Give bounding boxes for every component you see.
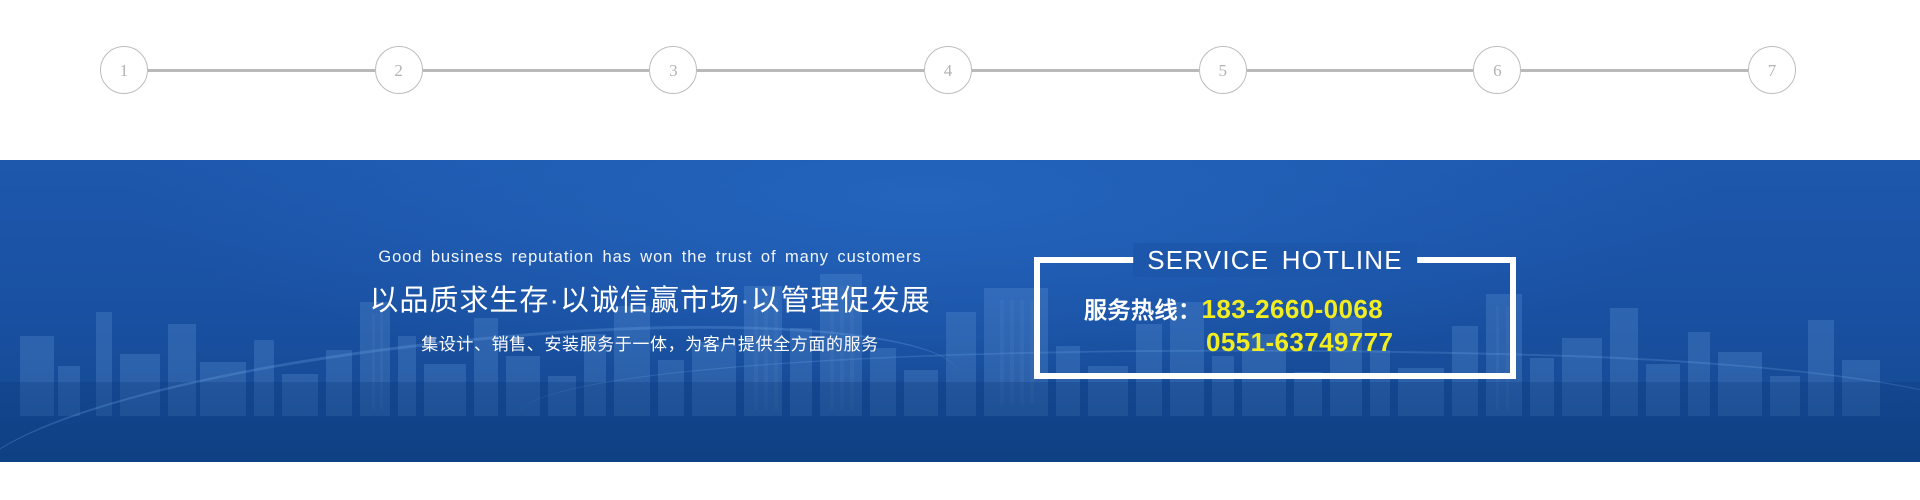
hotline-number-list: 服务热线： 183-2660-0068 0551-63749777	[1040, 291, 1510, 358]
page-root: 1 2 3 4 5 6 7	[0, 0, 1920, 500]
step-node-2[interactable]: 2	[375, 46, 423, 94]
hotline-row-primary: 服务热线： 183-2660-0068	[1084, 291, 1510, 325]
step-connector-3-4	[697, 69, 924, 72]
step-node-1[interactable]: 1	[100, 46, 148, 94]
step-node-5[interactable]: 5	[1199, 46, 1247, 94]
hotline-label: 服务热线：	[1084, 291, 1202, 325]
blue-banner: Good business reputation has won the tru…	[0, 160, 1920, 462]
stepper-track: 1 2 3 4 5 6 7	[100, 46, 1796, 94]
step-connector-6-7	[1521, 69, 1748, 72]
step-node-6[interactable]: 6	[1473, 46, 1521, 94]
city-skyline-background	[0, 216, 1920, 416]
step-label-4: 4	[944, 62, 953, 79]
service-hotline-title: SERVICE HOTLINE	[1133, 243, 1417, 277]
step-label-1: 1	[120, 62, 129, 79]
step-connector-5-6	[1247, 69, 1474, 72]
step-connector-4-5	[972, 69, 1199, 72]
step-label-5: 5	[1218, 62, 1227, 79]
step-node-4[interactable]: 4	[924, 46, 972, 94]
ground-band	[0, 382, 1920, 462]
slogan-chinese-sub: 集设计、销售、安装服务于一体，为客户提供全方面的服务	[360, 335, 940, 355]
step-node-7[interactable]: 7	[1748, 46, 1796, 94]
step-connector-1-2	[148, 69, 375, 72]
step-node-3[interactable]: 3	[649, 46, 697, 94]
hotline-number-secondary[interactable]: 0551-63749777	[1206, 327, 1393, 358]
service-hotline-box: SERVICE HOTLINE 服务热线： 183-2660-0068 0551…	[1034, 257, 1516, 379]
hotline-number-primary[interactable]: 183-2660-0068	[1202, 294, 1384, 325]
step-connector-2-3	[423, 69, 650, 72]
step-label-3: 3	[669, 62, 678, 79]
slogan-chinese-main: 以品质求生存·以诚信赢市场·以管理促发展	[360, 284, 940, 319]
slogan-english: Good business reputation has won the tru…	[360, 248, 940, 268]
step-label-7: 7	[1768, 62, 1777, 79]
step-label-6: 6	[1493, 62, 1502, 79]
hotline-row-secondary: 0551-63749777	[1084, 327, 1510, 358]
slogan-block: Good business reputation has won the tru…	[360, 248, 940, 355]
step-progress-bar: 1 2 3 4 5 6 7	[0, 0, 1920, 160]
step-label-2: 2	[394, 62, 403, 79]
